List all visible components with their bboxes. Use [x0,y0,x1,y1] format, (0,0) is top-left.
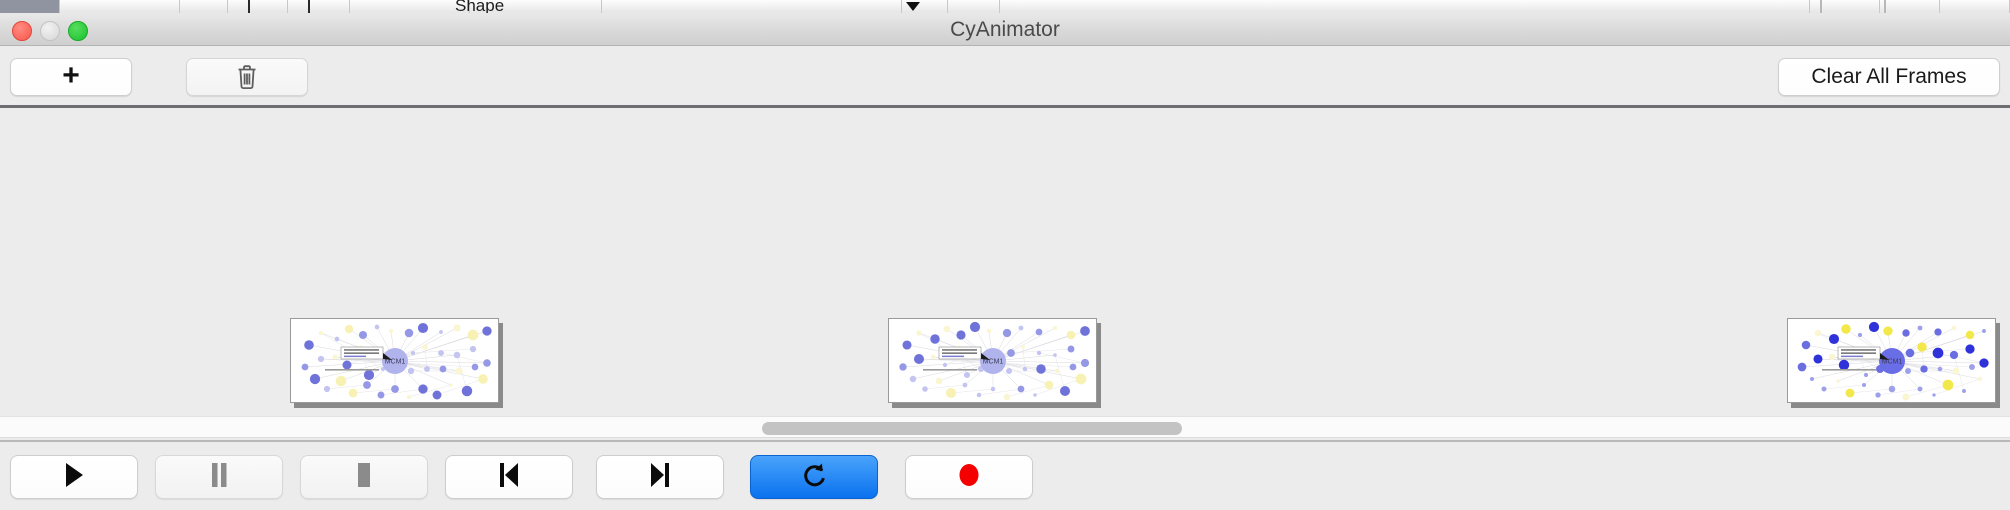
timeline-scrollbar[interactable] [0,416,2010,438]
record-icon [956,461,982,494]
pause-icon [208,462,230,493]
background-window-chip [1000,0,1810,13]
frame-thumbnail[interactable]: MCM1 [290,318,503,406]
background-tick-1 [248,0,250,13]
frame-thumbnail[interactable]: MCM1 [1787,318,2000,406]
next-frame-button[interactable] [596,455,724,499]
background-window-label: Shape [455,0,504,13]
background-window-chip [602,0,902,13]
background-window-chip [288,0,350,13]
delete-frame-button[interactable] [186,58,308,96]
previous-frame-button[interactable] [445,455,573,499]
background-tick-3 [1820,0,1822,13]
frame-thumbnail-image: MCM1 [888,318,1097,403]
skip-forward-icon [648,462,672,493]
svg-text:MCM1: MCM1 [385,359,406,366]
background-window-chip [1940,0,2010,13]
background-caret-icon [906,2,920,11]
frame-thumbnail-image: MCM1 [290,318,499,403]
background-window-chip [1880,0,1940,13]
timeline-scrollbar-thumb[interactable] [762,422,1182,435]
cyanimator-window: Shape CyAnimator + [0,0,2010,510]
background-tick-2 [308,0,310,13]
background-window-chip [350,0,470,13]
record-button[interactable] [905,455,1033,499]
background-windows-strip: Shape [0,0,2010,13]
stop-icon [353,462,375,493]
background-window-chip [180,0,228,13]
svg-text:MCM1: MCM1 [983,359,1004,366]
plus-icon: + [62,61,80,91]
toolbar: + Clear All Frames [0,46,2010,108]
background-window-chip [948,0,1000,13]
title-bar[interactable]: CyAnimator [0,13,2010,46]
frame-thumbnail[interactable]: MCM1 [888,318,1101,406]
add-frame-button[interactable]: + [10,58,132,96]
svg-text:MCM1: MCM1 [1882,359,1903,366]
trash-icon [236,64,258,90]
pause-button[interactable] [155,455,283,499]
stop-button[interactable] [300,455,428,499]
background-window-chip [0,0,60,13]
loop-icon [801,461,827,494]
frame-thumbnail-image: MCM1 [1787,318,1996,403]
timeline-panel[interactable]: MCM1MCM1MCM1 12131415161718 Seconds [0,111,2010,411]
clear-all-frames-label: Clear All Frames [1811,65,1966,89]
loop-button[interactable] [750,455,878,499]
play-button[interactable] [10,455,138,499]
clear-all-frames-button[interactable]: Clear All Frames [1778,58,2000,96]
window-title: CyAnimator [0,13,2010,46]
background-tick-4 [1884,0,1886,13]
background-window-chip [60,0,180,13]
skip-back-icon [497,462,521,493]
play-icon [63,462,85,493]
playback-control-bar: Animation Speed: [0,440,2010,510]
background-window-chip [228,0,288,13]
